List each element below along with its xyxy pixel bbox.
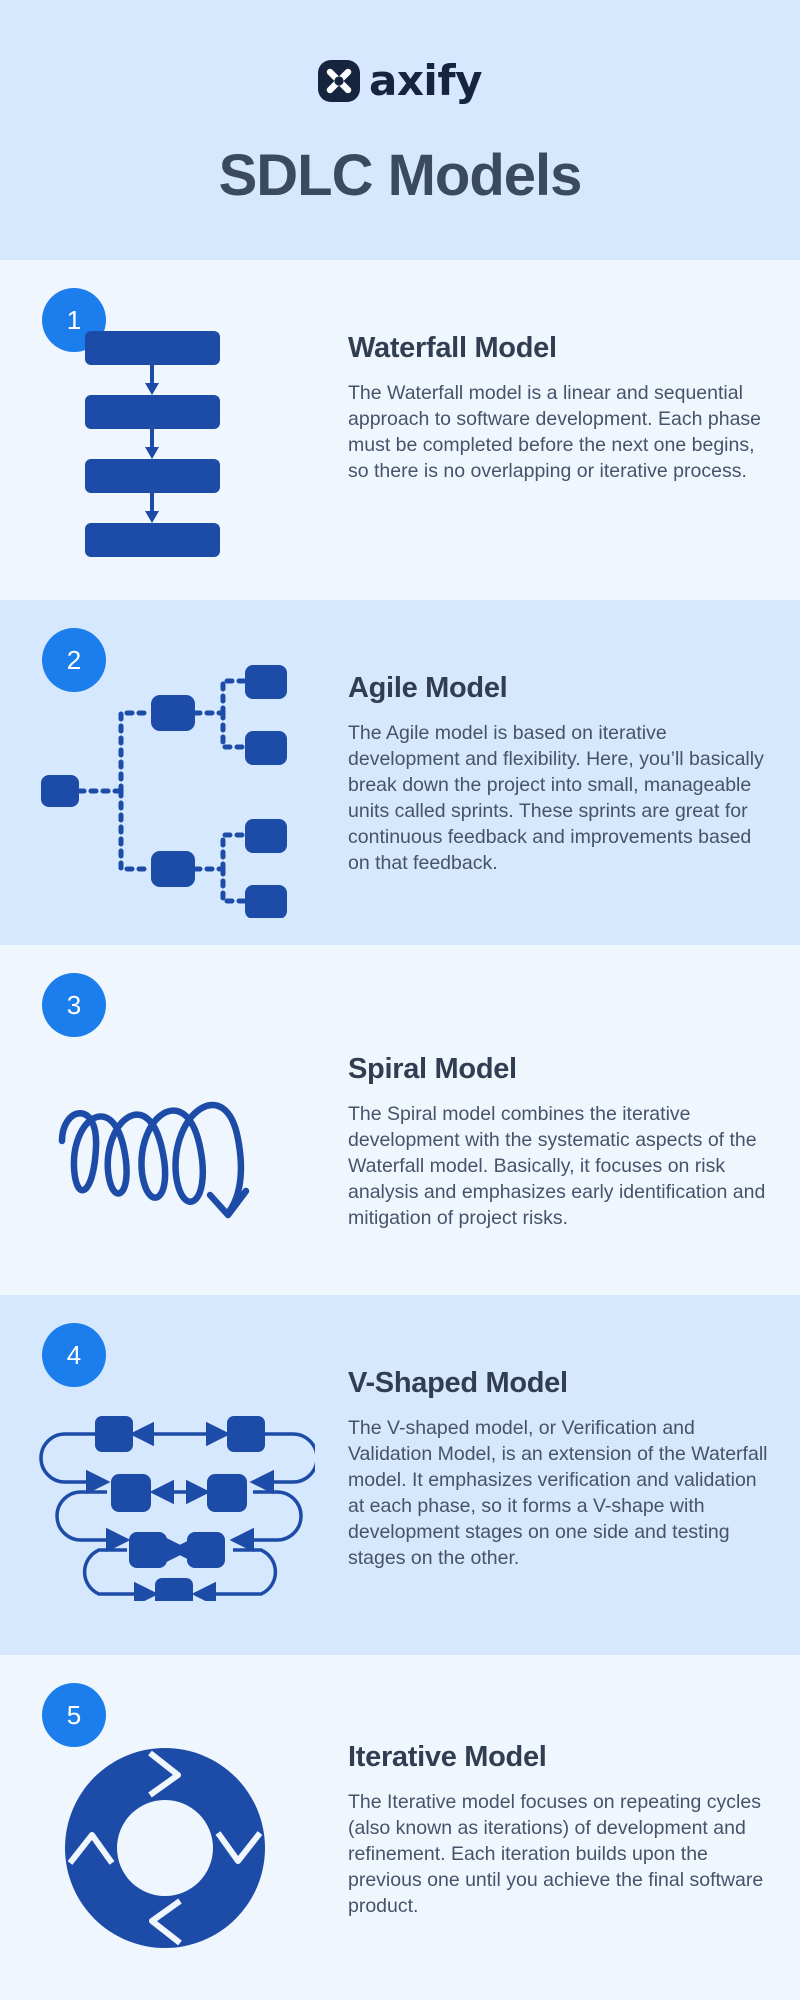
- iterative-text-block: Iterative Model The Iterative model focu…: [348, 1741, 768, 1920]
- header: axify SDLC Models: [0, 0, 800, 260]
- axify-x-logo-icon: [318, 60, 360, 102]
- brand-name: axify: [369, 60, 482, 102]
- spiral-text-block: Spiral Model The Spiral model combines t…: [348, 1053, 768, 1232]
- model-description: The Waterfall model is a linear and sequ…: [348, 381, 768, 485]
- model-title: Spiral Model: [348, 1053, 768, 1086]
- model-title: Agile Model: [348, 672, 768, 705]
- section-spiral: 3 Spiral Model The Spiral model combines…: [0, 945, 800, 1295]
- v-shaped-text-block: V-Shaped Model The V-shaped model, or Ve…: [348, 1367, 768, 1572]
- model-description: The Spiral model combines the iterative …: [348, 1102, 768, 1232]
- waterfall-text-block: Waterfall Model The Waterfall model is a…: [348, 332, 768, 485]
- agile-diagram: [0, 658, 330, 923]
- brand-logo: axify: [318, 58, 482, 104]
- section-v-shaped: 4: [0, 1295, 800, 1655]
- infographic-page: axify SDLC Models 1: [0, 0, 800, 2000]
- agile-text-block: Agile Model The Agile model is based on …: [348, 672, 768, 877]
- iterative-diagram: [0, 1715, 330, 1980]
- page-title: SDLC Models: [219, 142, 582, 209]
- section-agile: 2: [0, 600, 800, 945]
- v-shaped-diagram: [0, 1363, 330, 1633]
- model-title: Waterfall Model: [348, 332, 768, 365]
- model-description: The Agile model is based on iterative de…: [348, 721, 768, 877]
- model-title: Iterative Model: [348, 1741, 768, 1774]
- waterfall-diagram: [0, 318, 330, 573]
- section-waterfall: 1: [0, 260, 800, 600]
- model-description: The Iterative model focuses on repeating…: [348, 1790, 768, 1920]
- section-iterative: 5 Iterative Model The Iterative mod: [0, 1655, 800, 2000]
- spiral-diagram: [0, 1025, 330, 1270]
- model-description: The V-shaped model, or Verification and …: [348, 1416, 768, 1572]
- model-title: V-Shaped Model: [348, 1367, 768, 1400]
